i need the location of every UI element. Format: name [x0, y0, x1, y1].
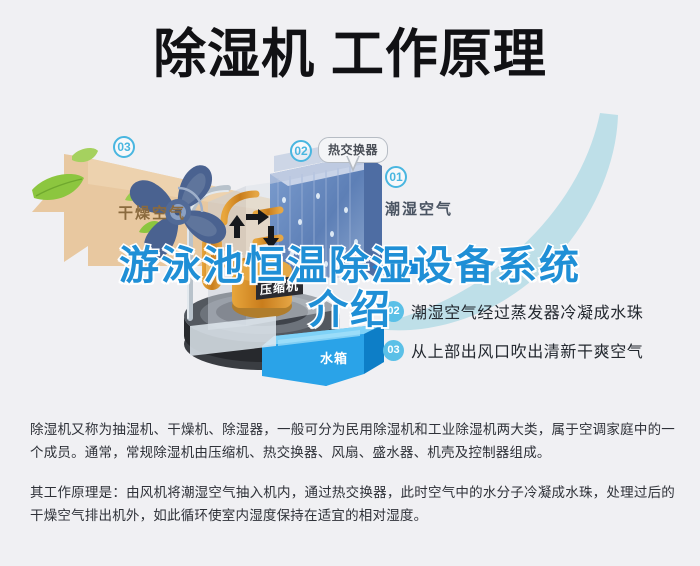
legend-text: 从上部出风口吹出清新干爽空气: [411, 338, 643, 362]
label-dry-air: 干燥空气: [118, 202, 186, 223]
legend-item: 03 从上部出风口吹出清新干爽空气: [383, 339, 693, 361]
legend-item: 02 潮湿空气经过蒸发器冷凝成水珠: [383, 300, 693, 322]
legend-number: 03: [383, 340, 404, 361]
page-root: 除湿机 工作原理: [0, 0, 700, 566]
legend-text: 潮湿空气经过蒸发器冷凝成水珠: [411, 299, 643, 323]
badge-02: 02: [290, 140, 312, 162]
legend-list: 02 潮湿空气经过蒸发器冷凝成水珠 03 从上部出风口吹出清新干爽空气: [383, 300, 693, 378]
legend-number: 02: [383, 301, 404, 322]
page-title-text: 除湿机 工作原理: [153, 28, 547, 81]
callout-pointer-icon: [345, 156, 361, 172]
body-copy: 除湿机又称为抽湿机、干燥机、除湿器，一般可分为民用除湿机和工业除湿机两大类，属于…: [30, 418, 675, 544]
page-title: 除湿机 工作原理: [0, 28, 700, 81]
body-paragraph-1: 除湿机又称为抽湿机、干燥机、除湿器，一般可分为民用除湿机和工业除湿机两大类，属于…: [30, 418, 675, 464]
badge-03: 03: [113, 136, 135, 158]
label-water-tank: 水箱: [320, 348, 348, 367]
label-humid-air: 潮湿空气: [385, 198, 453, 219]
badge-01: 01: [385, 166, 407, 188]
body-paragraph-2: 其工作原理是：由风机将潮湿空气抽入机内，通过热交换器，此时空气中的水分子冷凝成水…: [30, 481, 675, 527]
